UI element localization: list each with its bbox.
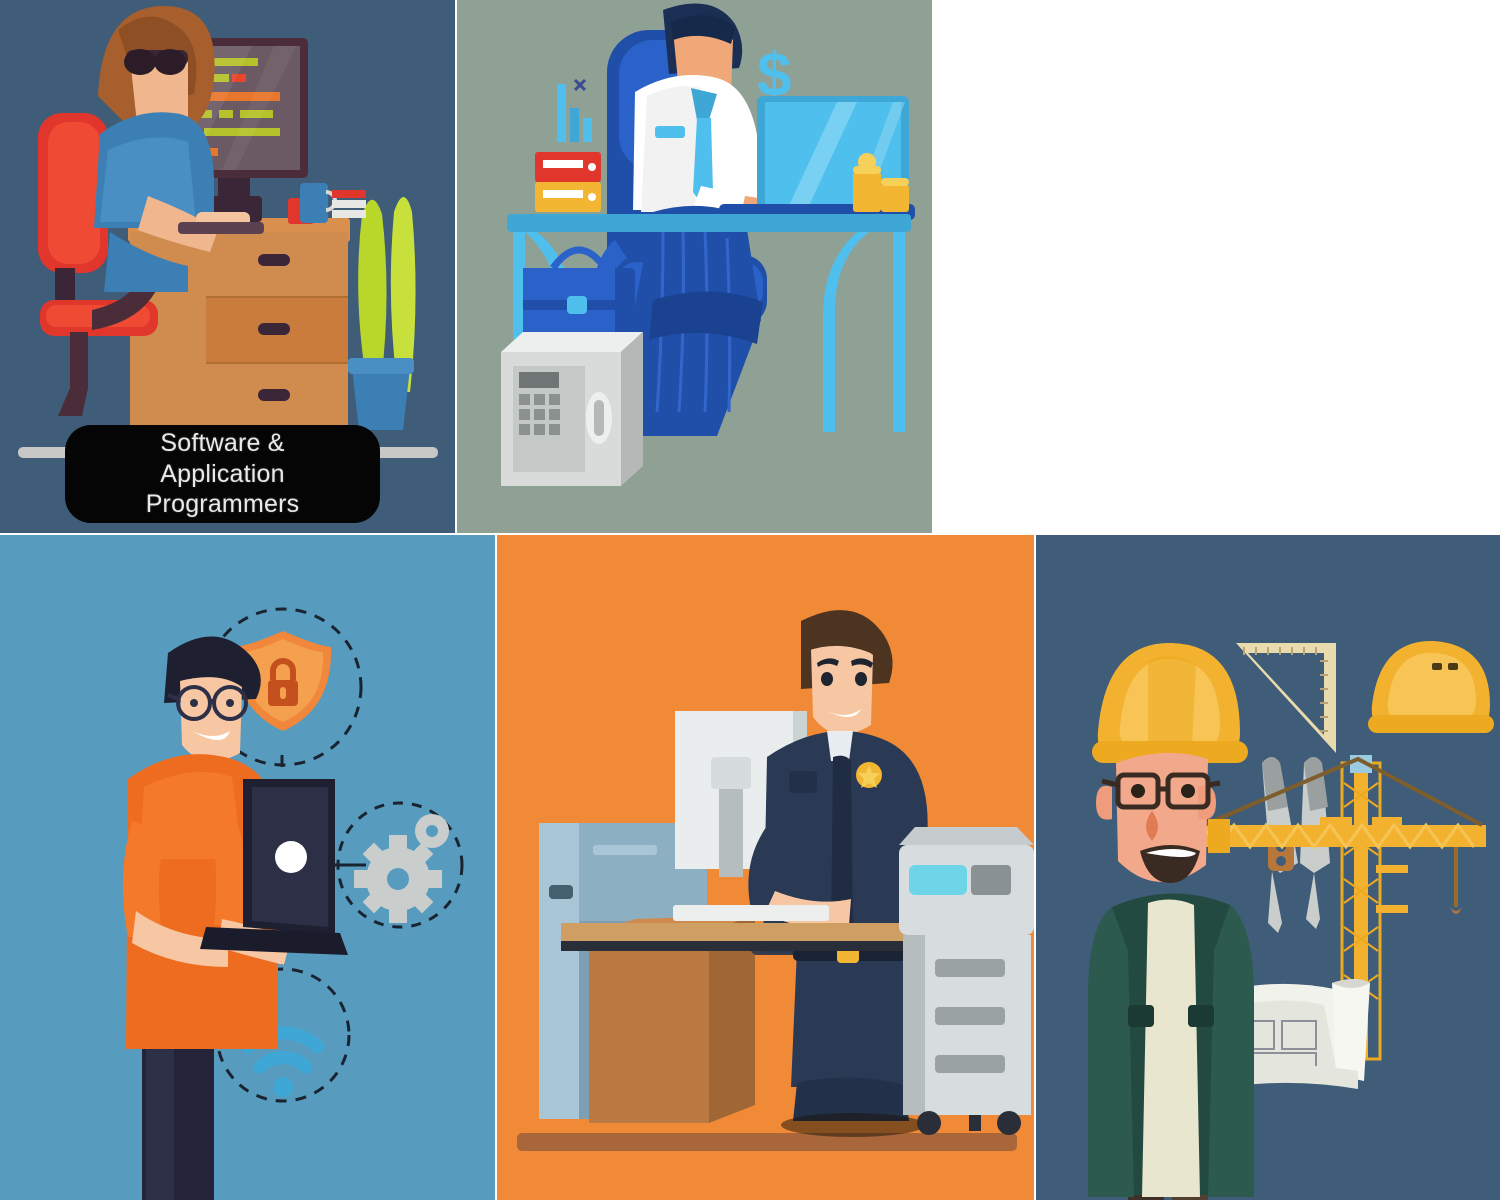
panel-civil-engineering: Civil Engineering Professionals	[1036, 535, 1500, 1200]
caption-line-2: Programmers	[81, 489, 364, 520]
poster-canvas: Software & Application Programmers $	[0, 0, 1500, 1200]
safe-graphic	[501, 332, 643, 486]
caption-software-programmers: Software & Application Programmers	[65, 425, 380, 523]
panel-ict-security: ICT Security Specialists	[497, 535, 1034, 1200]
accountant-illustration: $	[457, 0, 932, 533]
administrator-illustration	[0, 535, 495, 1200]
binders-graphic	[535, 152, 601, 212]
printer-graphic	[899, 827, 1034, 1135]
civil-engineer-illustration	[1036, 535, 1500, 1200]
panel-title: Australia Skill Select update for July 2…	[932, 0, 1500, 533]
security-specialist-illustration	[497, 535, 1034, 1200]
caption-line-1: Software & Application	[81, 428, 364, 489]
panel-accountants: $	[457, 0, 932, 533]
panel-database-administrators: Database & Systems Administrators	[0, 535, 495, 1200]
engineer-figure-graphic	[1088, 643, 1254, 1200]
panel-software-programmers: Software & Application Programmers	[0, 0, 455, 533]
